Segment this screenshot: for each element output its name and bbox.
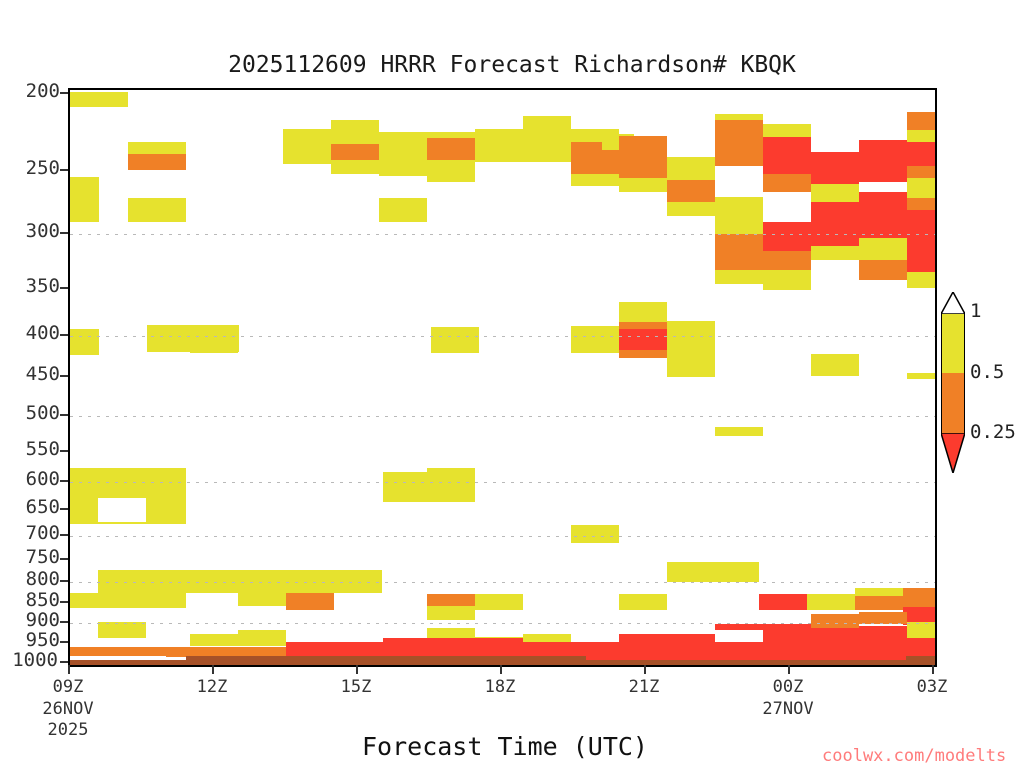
colorbar-over-arrow — [941, 292, 965, 318]
colorbar — [941, 312, 965, 434]
x-tick-label-21Z: 21Z — [599, 677, 689, 697]
colorbar-label-1: 1 — [970, 300, 981, 322]
colorbar-segment-1 — [942, 373, 964, 433]
plot-area — [68, 88, 937, 667]
heatmap-cell — [523, 116, 571, 162]
heatmap-cell — [427, 138, 475, 160]
chart-page: 2025112609 HRRR Forecast Richardson# KBQ… — [0, 0, 1024, 768]
terrain-band — [586, 660, 906, 665]
gridline-700 — [70, 536, 935, 537]
y-tick-mark-700 — [60, 534, 68, 536]
heatmap-cell — [475, 129, 523, 162]
heatmap-cell — [379, 132, 427, 176]
heatmap-cell — [667, 202, 715, 216]
heatmap-cell — [859, 260, 907, 280]
y-tick-mark-400 — [60, 334, 68, 336]
heatmap-cell — [138, 593, 186, 608]
heatmap-cell — [811, 246, 859, 260]
y-tick-mark-550 — [60, 450, 68, 452]
terrain-band — [906, 656, 935, 665]
heatmap-cell — [715, 630, 763, 642]
heatmap-cell — [283, 129, 331, 164]
heatmap-cell — [907, 178, 935, 200]
x-tick-mark-1 — [212, 665, 214, 674]
heatmap-cell — [811, 202, 859, 250]
heatmap-cell — [286, 598, 334, 610]
heatmap-cell — [238, 570, 286, 606]
y-tick-label-450: 450 — [0, 363, 60, 385]
heatmap-cell — [907, 373, 935, 379]
terrain-band — [326, 656, 586, 665]
y-tick-label-750: 750 — [0, 546, 60, 568]
y-tick-mark-250 — [60, 169, 68, 171]
heatmap-cell — [667, 321, 715, 377]
heatmap-cell — [238, 630, 286, 646]
heatmap-cell — [859, 192, 907, 244]
heatmap-cell — [667, 562, 759, 582]
y-tick-mark-450 — [60, 375, 68, 377]
heatmap-cell — [907, 210, 935, 276]
y-tick-label-700: 700 — [0, 522, 60, 544]
y-tick-mark-600 — [60, 480, 68, 482]
gridline-500 — [70, 416, 935, 417]
heatmap-cell — [70, 329, 99, 355]
heatmap-cell — [128, 198, 186, 222]
y-tick-label-850: 850 — [0, 589, 60, 611]
y-tick-label-300: 300 — [0, 220, 60, 242]
heatmap-cell — [763, 270, 811, 290]
heatmap-cell — [715, 120, 763, 166]
y-tick-label-600: 600 — [0, 468, 60, 490]
heatmap-cell — [128, 154, 186, 170]
heatmap-cell — [619, 634, 715, 660]
gridline-900 — [70, 623, 935, 624]
y-tick-label-350: 350 — [0, 275, 60, 297]
heatmap-cell — [859, 140, 907, 182]
y-tick-mark-750 — [60, 558, 68, 560]
x-tick-label-15Z: 15Z — [311, 677, 401, 697]
y-tick-label-900: 900 — [0, 609, 60, 631]
y-tick-label-400: 400 — [0, 322, 60, 344]
heatmap-cell — [907, 272, 935, 288]
x-tick-label-18Z: 18Z — [455, 677, 545, 697]
heatmap-cell — [571, 174, 619, 186]
x-sublabel-27NOV: 27NOV — [733, 699, 843, 719]
y-tick-label-950: 950 — [0, 629, 60, 651]
y-tick-label-250: 250 — [0, 157, 60, 179]
heatmap-cell — [619, 136, 667, 184]
heatmap-cell — [811, 354, 859, 376]
heatmap-cell — [571, 326, 619, 353]
heatmap-cell — [331, 160, 379, 174]
heatmap-cell — [811, 614, 859, 628]
heatmap-cell — [619, 350, 667, 358]
y-tick-label-650: 650 — [0, 496, 60, 518]
credit-text: coolwx.com/modelts — [822, 746, 1006, 766]
heatmap-cell — [70, 92, 128, 107]
heatmap-cell — [190, 339, 238, 353]
x-tick-label-12Z: 12Z — [167, 677, 257, 697]
terrain-band — [70, 660, 186, 665]
y-tick-mark-300 — [60, 232, 68, 234]
x-tick-mark-2 — [356, 665, 358, 674]
y-tick-label-1000: 1000 — [0, 649, 58, 671]
x-tick-mark-6 — [932, 665, 934, 674]
x-tick-mark-0 — [68, 665, 70, 674]
heatmap-cell — [427, 468, 475, 502]
x-tick-label-09Z: 09Z — [23, 677, 113, 697]
y-tick-label-800: 800 — [0, 568, 60, 590]
heatmap-cell — [70, 647, 166, 656]
y-tick-mark-800 — [60, 580, 68, 582]
heatmap-cell — [331, 144, 379, 160]
gridline-800 — [70, 582, 935, 583]
heatmap-cell — [70, 593, 138, 608]
heatmap-cell — [715, 270, 763, 284]
heatmap-cell — [907, 142, 935, 168]
heatmap-cell — [427, 606, 475, 620]
heatmap-cell — [619, 594, 667, 610]
heatmap-cell — [619, 178, 667, 192]
x-tick-mark-4 — [644, 665, 646, 674]
y-tick-mark-1000 — [60, 661, 68, 663]
y-tick-label-550: 550 — [0, 438, 60, 460]
gridline-400 — [70, 336, 935, 337]
colorbar-label-0.5: 0.5 — [970, 361, 1004, 383]
heatmap-cell — [807, 594, 855, 610]
x-tick-mark-3 — [500, 665, 502, 674]
heatmap-cell — [571, 525, 619, 543]
heatmap-cell — [427, 160, 475, 182]
x-sublabel-2025: 2025 — [13, 720, 123, 740]
heatmap-cell — [759, 594, 807, 610]
heatmap-cell — [98, 622, 146, 638]
colorbar-under-arrow — [941, 433, 965, 477]
heatmap-cell — [763, 174, 811, 192]
gridline-600 — [70, 482, 935, 483]
y-tick-mark-850 — [60, 601, 68, 603]
y-tick-mark-900 — [60, 621, 68, 623]
y-tick-mark-200 — [60, 92, 68, 94]
x-tick-label-00Z: 00Z — [743, 677, 833, 697]
heatmap-cell — [128, 142, 186, 154]
y-tick-label-200: 200 — [0, 80, 60, 102]
heatmap-cell — [98, 498, 146, 522]
heatmap-cell — [379, 198, 427, 222]
y-tick-mark-500 — [60, 414, 68, 416]
x-tick-label-03Z: 03Z — [887, 677, 977, 697]
colorbar-segment-0 — [942, 313, 964, 373]
heatmap-cell — [70, 177, 99, 222]
x-axis-title: Forecast Time (UTC) — [362, 732, 648, 761]
heatmap-cell — [431, 327, 479, 353]
y-tick-label-500: 500 — [0, 402, 60, 424]
y-tick-mark-950 — [60, 641, 68, 643]
y-tick-mark-650 — [60, 508, 68, 510]
chart-title: 2025112609 HRRR Forecast Richardson# KBQ… — [0, 52, 1024, 78]
gridline-300 — [70, 234, 935, 235]
heatmap-cell — [475, 594, 523, 610]
heatmap-cell — [331, 120, 379, 144]
heatmap-cell — [715, 427, 763, 436]
y-tick-mark-350 — [60, 287, 68, 289]
x-sublabel-26NOV: 26NOV — [13, 699, 123, 719]
colorbar-label-0.25: 0.25 — [970, 421, 1016, 443]
heatmap-cell — [190, 634, 238, 646]
heatmap-cells — [70, 90, 935, 665]
terrain-band — [186, 656, 326, 665]
x-tick-mark-5 — [788, 665, 790, 674]
